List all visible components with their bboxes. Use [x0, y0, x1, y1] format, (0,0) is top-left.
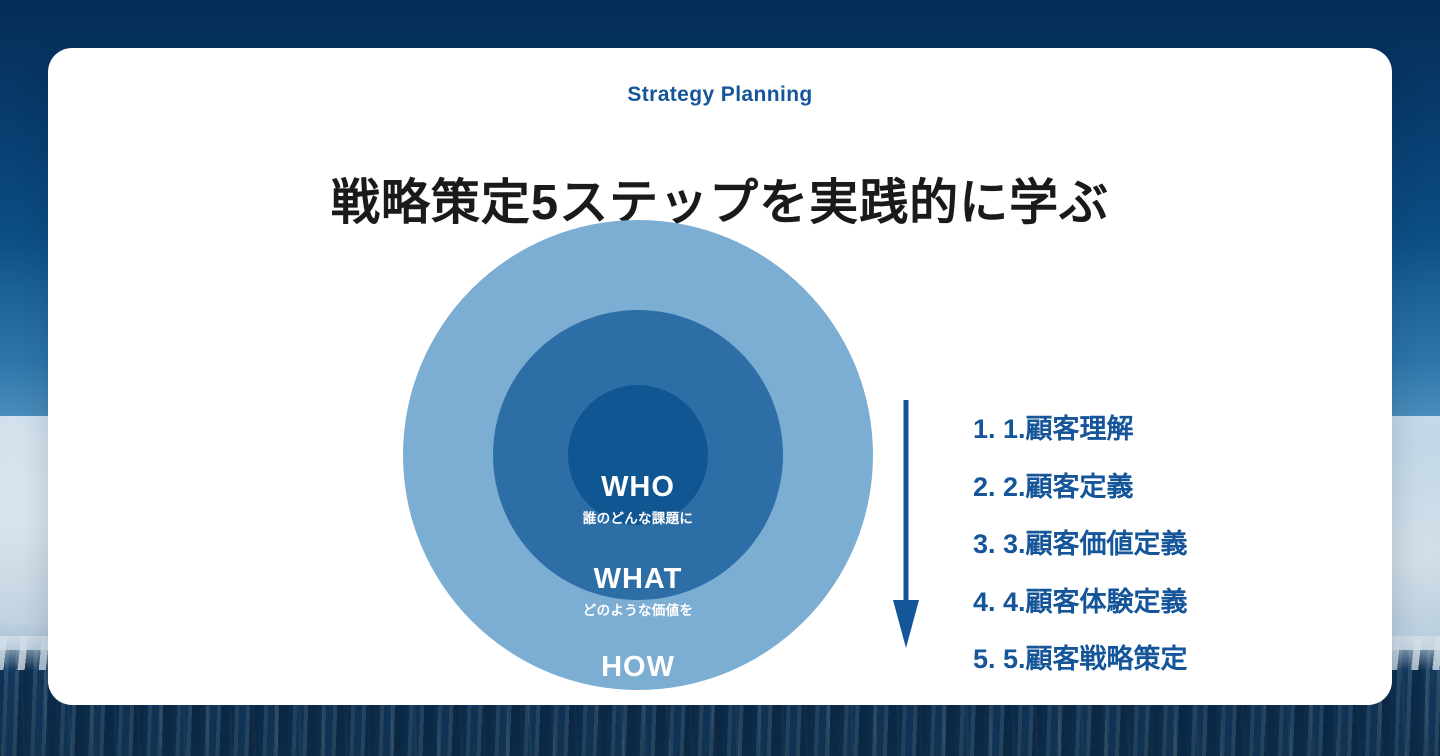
step-item-3: 3.顧客価値定義 — [1003, 531, 1333, 558]
circle-caption-what: どのような価値を — [403, 599, 873, 619]
circle-caption-who: 誰のどんな課題に — [403, 507, 873, 527]
step-item-1: 1.顧客理解 — [1003, 416, 1333, 443]
circle-caption-how: どのような施策で届けるか？ — [403, 687, 873, 705]
step-item-2: 2.顧客定義 — [1003, 474, 1333, 501]
step-list: 1.顧客理解 2.顧客定義 3.顧客価値定義 4.顧客体験定義 5.顧客戦略策定 — [963, 416, 1333, 673]
slide-stage: Strategy Planning 戦略策定5ステップを実践的に学ぶ WHO 誰… — [0, 0, 1440, 756]
circle-labels: WHO 誰のどんな課題に WHAT どのような価値を HOW どのような施策で届… — [403, 220, 873, 690]
eyebrow-label: Strategy Planning — [48, 83, 1392, 107]
circle-label-what: WHAT どのような価値を — [403, 564, 873, 619]
circle-label-who: WHO 誰のどんな課題に — [403, 472, 873, 527]
circle-term-how: HOW — [403, 652, 873, 682]
content-card: Strategy Planning 戦略策定5ステップを実践的に学ぶ WHO 誰… — [48, 48, 1392, 705]
step-item-4: 4.顧客体験定義 — [1003, 589, 1333, 616]
down-arrow-icon — [893, 400, 919, 650]
circle-term-who: WHO — [403, 472, 873, 502]
concentric-circle-diagram: WHO 誰のどんな課題に WHAT どのような価値を HOW どのような施策で届… — [403, 220, 873, 690]
circle-label-how: HOW どのような施策で届けるか？ — [403, 652, 873, 705]
step-item-5: 5.顧客戦略策定 — [1003, 646, 1333, 673]
circle-term-what: WHAT — [403, 564, 873, 594]
